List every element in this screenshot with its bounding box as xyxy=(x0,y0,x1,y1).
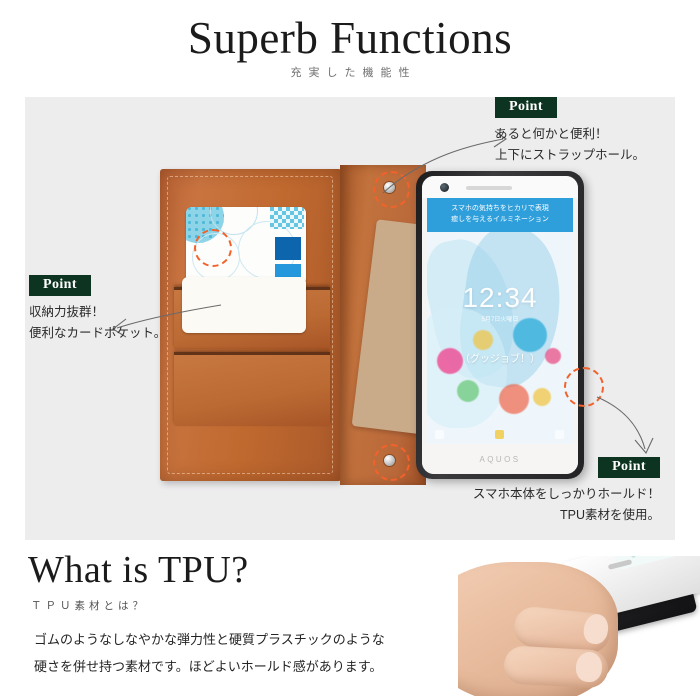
point-badge: Point xyxy=(29,275,91,296)
phone-screen: スマホの気持ちをヒカリで表現 癒しを与えるイルミネーション 12:34 5月7日… xyxy=(427,198,573,444)
callout-line: 便利なカードポケット。 xyxy=(29,323,166,344)
inserted-card-plain xyxy=(182,277,306,333)
tpu-body-line-1: ゴムのようなしなやかな弾力性と硬質プラスチックのような xyxy=(34,626,385,653)
callout-line: 上下にストラップホール。 xyxy=(495,145,645,166)
smartphone-in-case: スマホの気持ちをヒカリで表現 癒しを与えるイルミネーション 12:34 5月7日… xyxy=(416,171,584,479)
page-title: Superb Functions xyxy=(0,12,700,64)
tpu-flex-photo xyxy=(458,556,700,696)
callout-line: あると何かと便利！ xyxy=(495,124,645,145)
dashed-highlight-circle-icon xyxy=(194,229,232,267)
lockscreen-clock: 12:34 xyxy=(427,282,573,314)
page-subtitle: 充実した機能性 xyxy=(0,64,700,80)
phone-case-photo: スマホの気持ちをヒカリで表現 癒しを与えるイルミネーション 12:34 5月7日… xyxy=(160,165,590,485)
card-pocket-lower xyxy=(174,352,330,426)
callout-line: スマホ本体をしっかりホールド！ xyxy=(355,484,660,505)
lockscreen-date: 5月7日火曜日 xyxy=(427,314,573,323)
lockscreen-shortcut-tray xyxy=(427,428,573,442)
banner-line-1: スマホの気持ちをヒカリで表現 xyxy=(427,203,573,214)
earpiece-speaker-icon xyxy=(466,186,512,190)
tpu-body: ゴムのようなしなやかな弾力性と硬質プラスチックのような 硬さを併せ持つ素材です。… xyxy=(34,626,385,680)
tpu-body-line-2: 硬さを併せ持つ素材です。ほどよいホールド感があります。 xyxy=(34,653,385,680)
case-left-flap xyxy=(160,169,340,481)
lock-icon xyxy=(495,430,504,439)
case-spine xyxy=(340,165,426,485)
callout-tpu-hold: Point スマホ本体をしっかりホールド！ TPU素材を使用。 xyxy=(355,457,660,526)
phone-shortcut-icon xyxy=(435,430,444,439)
dashed-highlight-circle-icon xyxy=(564,367,604,407)
tpu-explainer-section: What is TPU? ＴＰＵ素材とは？ ゴムのようなしなやかな弾力性と硬質プ… xyxy=(0,552,700,700)
camera-shortcut-icon xyxy=(555,430,564,439)
callout-line: 収納力抜群！ xyxy=(29,302,166,323)
callout-card-pocket: Point 収納力抜群！ 便利なカードポケット。 xyxy=(29,275,166,344)
callout-line: TPU素材を使用。 xyxy=(355,505,660,526)
feature-panel: スマホの気持ちをヒカリで表現 癒しを与えるイルミネーション 12:34 5月7日… xyxy=(25,97,675,540)
dashed-highlight-circle-icon xyxy=(373,171,410,208)
point-badge: Point xyxy=(598,457,660,478)
front-camera-icon xyxy=(440,183,449,192)
callout-strap-hole: Point あると何かと便利！ 上下にストラップホール。 xyxy=(495,97,645,166)
point-badge: Point xyxy=(495,97,557,118)
screen-banner: スマホの気持ちをヒカリで表現 癒しを与えるイルミネーション xyxy=(427,198,573,232)
tpu-title: What is TPU? xyxy=(28,548,249,592)
screen-overlay-text: （グッジョブ！） xyxy=(427,350,573,365)
tpu-subtitle: ＴＰＵ素材とは？ xyxy=(31,598,147,613)
page-header: Superb Functions 充実した機能性 xyxy=(0,0,700,97)
banner-line-2: 癒しを与えるイルミネーション xyxy=(427,214,573,225)
product-feature-page: Superb Functions 充実した機能性 xyxy=(0,0,700,700)
